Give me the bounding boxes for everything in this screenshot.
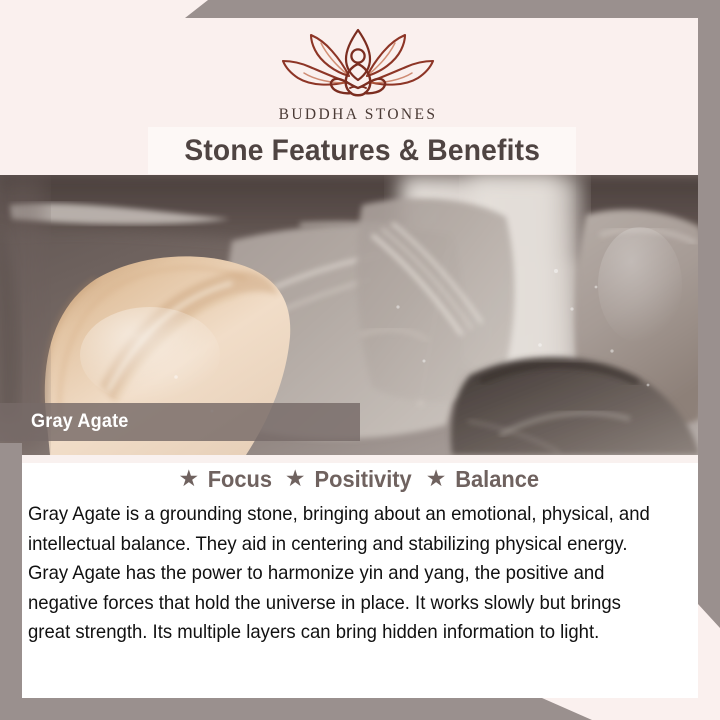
- keyword-label: Balance: [456, 466, 540, 493]
- panel-top-strip: [22, 455, 698, 463]
- keyword-item-balance: ★ Balance: [426, 466, 542, 493]
- brand-name: BUDDHA STONES: [279, 106, 438, 124]
- lotus-meditation-icon: [277, 28, 439, 102]
- star-icon: ★: [426, 467, 447, 490]
- page-title: Stone Features & Benefits: [184, 134, 540, 168]
- description-text: Gray Agate is a grounding stone, bringin…: [28, 500, 658, 648]
- keyword-label: Positivity: [315, 466, 412, 493]
- star-icon: ★: [178, 467, 199, 490]
- brand-logo: BUDDHA STONES: [18, 28, 698, 124]
- keyword-label: Focus: [208, 466, 272, 493]
- photo-caption-band: Gray Agate: [0, 403, 360, 441]
- keyword-list: ★ Focus ★ Positivity ★ Balance: [22, 466, 698, 493]
- frame-right-bar: [698, 0, 720, 628]
- frame-left-bar: [0, 443, 22, 720]
- photo-caption: Gray Agate: [31, 411, 129, 433]
- frame-bottom-bar: [0, 698, 720, 720]
- keyword-item-positivity: ★ Positivity: [285, 466, 415, 493]
- stone-info-card: BUDDHA STONES Stone Features & Benefits: [0, 0, 720, 720]
- keyword-item-focus: ★ Focus: [178, 466, 273, 493]
- title-banner: Stone Features & Benefits: [148, 127, 576, 174]
- star-icon: ★: [285, 467, 306, 490]
